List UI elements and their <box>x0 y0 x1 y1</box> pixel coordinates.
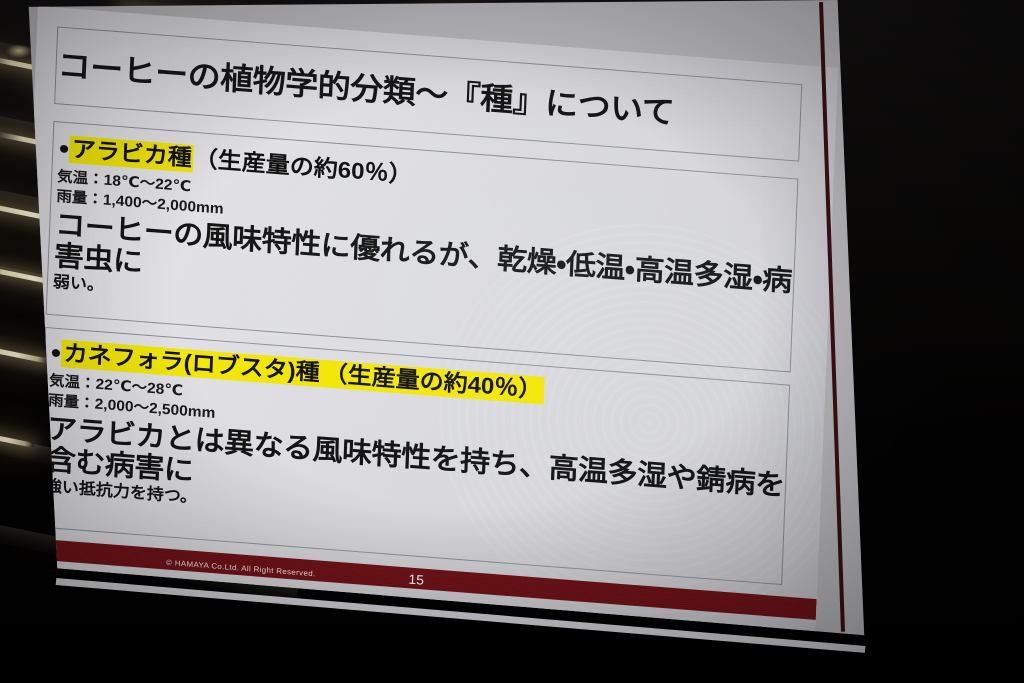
species-block-arabica: ●アラビカ種（生産量の約60％） 気温：18℃～22℃ 雨量：1,400～2,0… <box>53 137 815 351</box>
slide-plane: コーヒーの植物学的分類～『種』について ●アラビカ種（生産量の約60％） 気温：… <box>15 6 838 635</box>
species-block-robusta: ●カネフォラ(ロブスタ)種（生産量の約40％） 気温：22℃～28℃ 雨量：2,… <box>44 341 806 555</box>
presentation-slide: コーヒーの植物学的分類～『種』について ●アラビカ種（生産量の約60％） 気温：… <box>15 6 838 635</box>
species-name-arabica: アラビカ種 <box>69 136 194 173</box>
page-title: コーヒーの植物学的分類～『種』について <box>57 40 819 144</box>
screen-surface: コーヒーの植物学的分類～『種』について ●アラビカ種（生産量の約60％） 気温：… <box>0 0 1024 683</box>
page-number: 15 <box>16 541 817 618</box>
projection-screen: コーヒーの植物学的分類～『種』について ●アラビカ種（生産量の約60％） 気温：… <box>0 0 1024 683</box>
photo-scene: コーヒーの植物学的分類～『種』について ●アラビカ種（生産量の約60％） 気温：… <box>0 0 1024 683</box>
